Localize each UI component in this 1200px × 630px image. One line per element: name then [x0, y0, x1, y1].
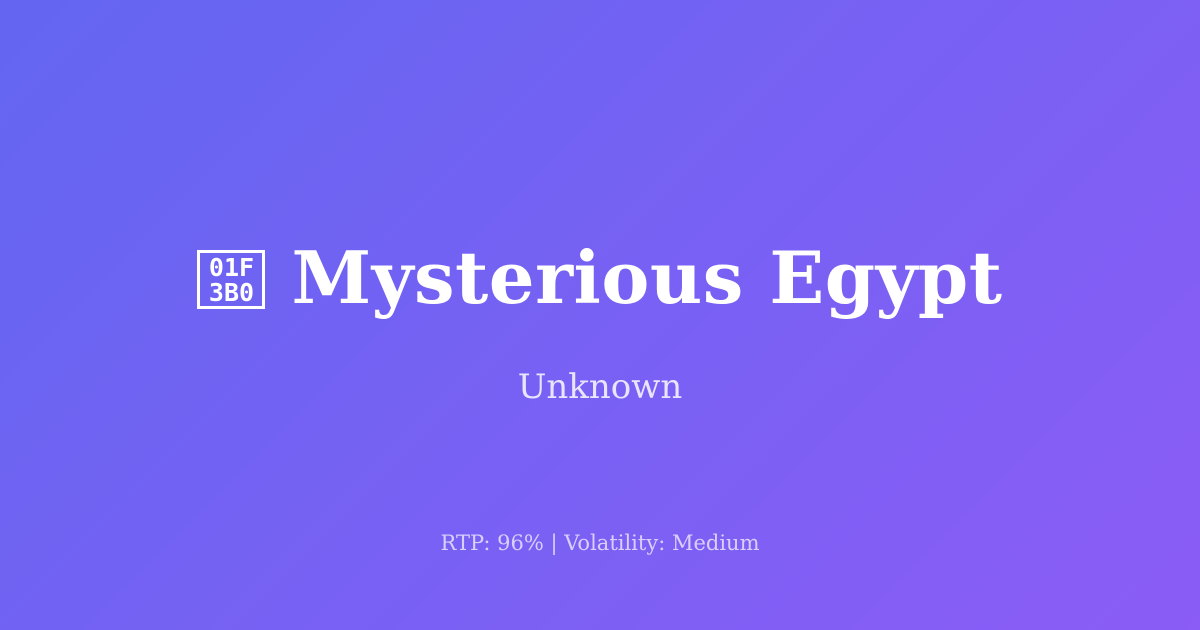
- game-stats-footer: RTP: 96% | Volatility: Medium: [0, 529, 1200, 557]
- game-title-text: Mysterious Egypt: [291, 235, 1002, 321]
- tofu-codepoint-top: 01F: [209, 255, 254, 280]
- page-title: 01F 3B0 Mysterious Egypt: [0, 232, 1200, 324]
- game-provider-subtitle: Unknown: [0, 365, 1200, 409]
- slot-machine-emoji: 01F 3B0: [197, 250, 265, 309]
- game-banner-card: 01F 3B0 Mysterious Egypt Unknown RTP: 96…: [0, 0, 1200, 630]
- tofu-codepoint-bottom: 3B0: [209, 280, 254, 305]
